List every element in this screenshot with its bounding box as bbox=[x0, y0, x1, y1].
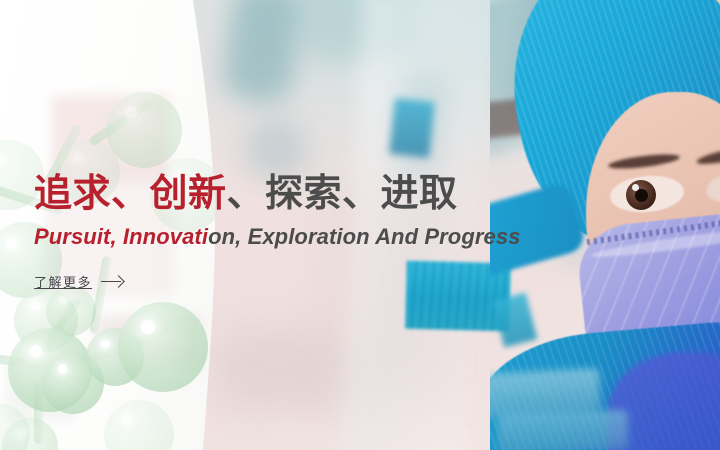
learn-more-link[interactable]: 了解更多 bbox=[34, 272, 127, 291]
pipette-tips-upper bbox=[389, 98, 435, 158]
molecule-atom bbox=[106, 92, 182, 168]
headline-red-segment: 追求、创新 bbox=[34, 173, 227, 215]
subtitle-red-segment: Pursuit, Innovati bbox=[34, 224, 208, 249]
subtitle-gray-segment: on, Exploration And Progress bbox=[208, 224, 520, 249]
hero-headline: 追求、创新、探索、进取 bbox=[34, 172, 674, 216]
bench-blur-2 bbox=[497, 410, 628, 450]
headline-gray-segment: 、探索、进取 bbox=[227, 173, 458, 215]
molecule-atom bbox=[104, 400, 174, 450]
arrow-right-icon bbox=[101, 276, 127, 288]
hero-text-block: 追求、创新、探索、进取 Pursuit, Innovation, Explora… bbox=[34, 172, 674, 250]
hero-subtitle: Pursuit, Innovation, Exploration And Pro… bbox=[34, 224, 674, 250]
learn-more-label: 了解更多 bbox=[34, 272, 92, 291]
molecule-atom bbox=[118, 302, 208, 392]
equipment-blur-6 bbox=[246, 120, 306, 180]
hero-banner: 追求、创新、探索、进取 Pursuit, Innovation, Explora… bbox=[0, 0, 720, 450]
